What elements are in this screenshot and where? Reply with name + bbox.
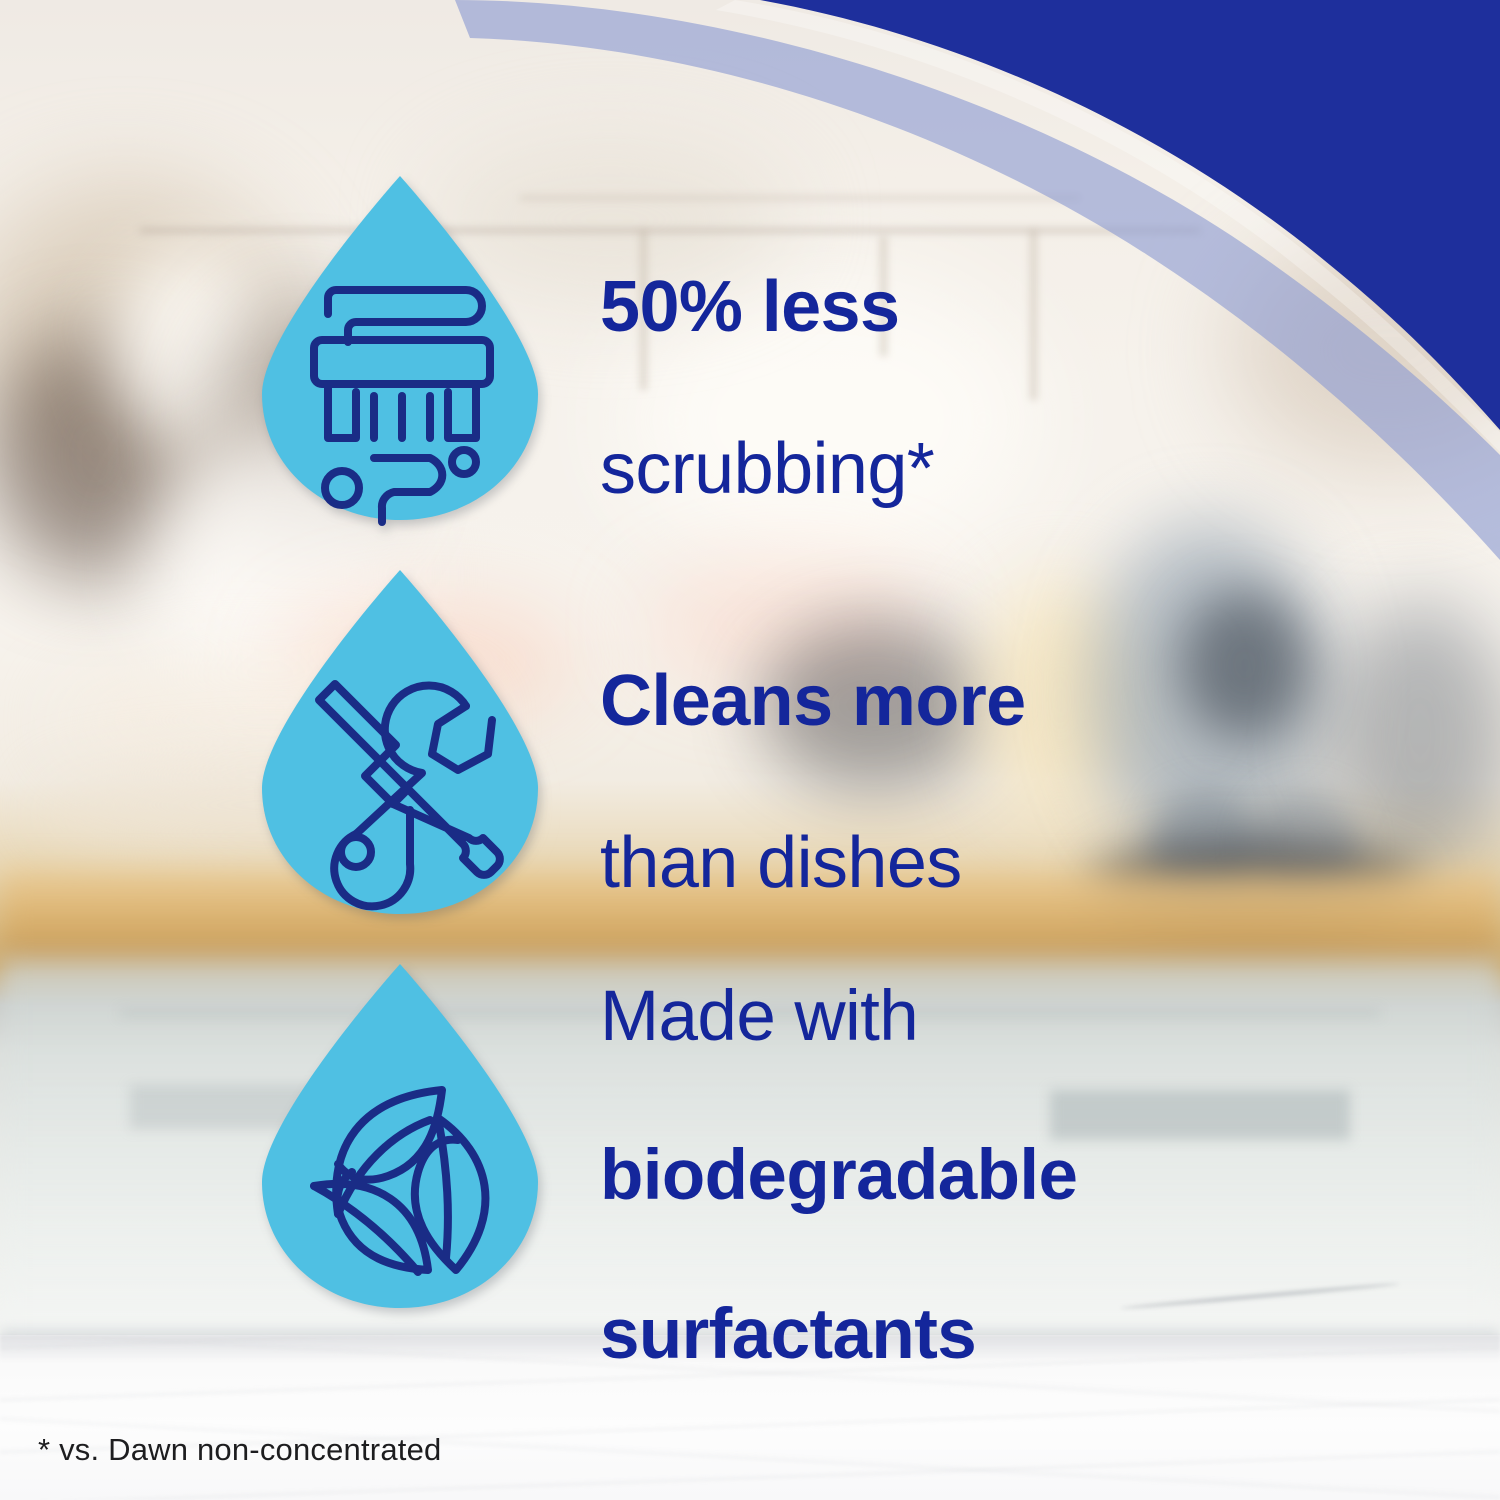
- benefit-row-biodegradable: Made with biodegradable surfactants: [252, 956, 1412, 1316]
- droplet-badge-biodegradable: [252, 958, 548, 1314]
- scrub-brush-icon: [252, 170, 548, 526]
- promo-image: 50% less scrubbing*: [0, 0, 1500, 1500]
- droplet-shape: [262, 176, 538, 520]
- benefit-line-2: scrubbing*: [600, 429, 934, 509]
- recycling-leaves-icon: [252, 958, 548, 1314]
- benefit-text-scrubbing: 50% less scrubbing*: [600, 185, 934, 510]
- benefit-line-2: than dishes: [600, 823, 962, 903]
- benefit-text-cleans-more: Cleans more than dishes: [600, 579, 1026, 904]
- footnote-disclaimer: * vs. Dawn non-concentrated: [38, 1432, 441, 1468]
- benefit-line-3: surfactants: [600, 1295, 976, 1374]
- benefit-line-1: 50% less: [600, 267, 899, 347]
- droplet-badge-tools: [252, 564, 548, 920]
- droplet-badge-scrubbing: [252, 170, 548, 526]
- tools-wrench-screwdriver-icon: [252, 564, 548, 920]
- benefit-text-biodegradable: Made with biodegradable surfactants: [600, 897, 1077, 1374]
- benefit-row-scrubbing: 50% less scrubbing*: [252, 168, 1412, 528]
- benefit-line-2: biodegradable: [600, 1136, 1077, 1215]
- benefit-row-cleans-more: Cleans more than dishes: [252, 562, 1412, 922]
- benefit-list: 50% less scrubbing*: [0, 0, 1500, 1500]
- benefit-line-1: Cleans more: [600, 661, 1026, 741]
- benefit-line-1: Made with: [600, 977, 918, 1056]
